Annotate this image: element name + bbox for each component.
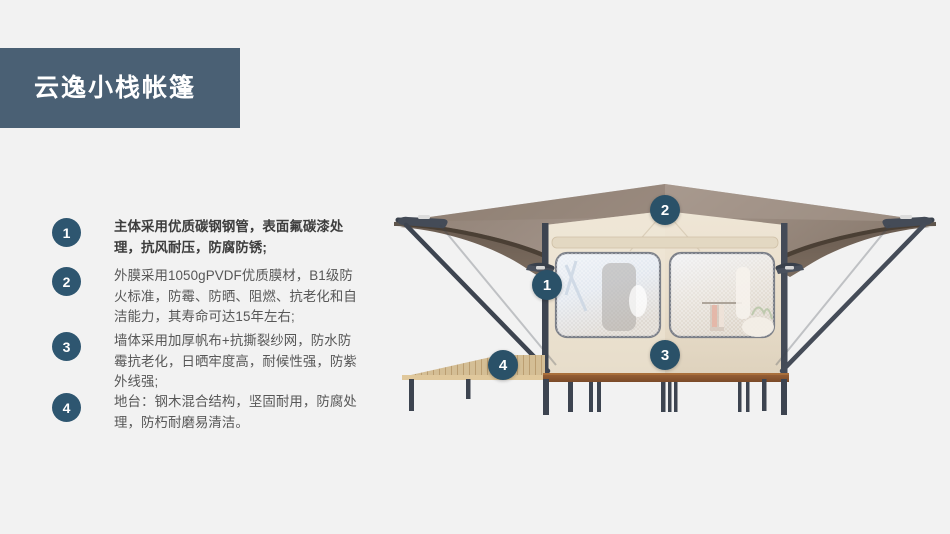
marker-2[interactable]: 2 bbox=[650, 195, 680, 225]
feature-badge-1: 1 bbox=[52, 218, 81, 247]
feature-badge-2: 2 bbox=[52, 267, 81, 296]
deck-support-legs bbox=[409, 379, 787, 415]
marker-4[interactable]: 4 bbox=[488, 350, 518, 380]
tent-product-illustration: 1 2 3 4 bbox=[380, 165, 950, 430]
feature-badge-3: 3 bbox=[52, 332, 81, 361]
window-right bbox=[670, 253, 774, 337]
feature-text-4: 地台：钢木混合结构，坚固耐用，防腐处理，防朽耐磨易清洁。 bbox=[114, 392, 364, 433]
feature-text-3: 墙体采用加厚帆布+抗撕裂纱网，防水防霉抗老化，日晒牢度高，耐候性强，防紫外线强; bbox=[114, 331, 364, 393]
marker-3[interactable]: 3 bbox=[650, 340, 680, 370]
feature-text-1: 主体采用优质碳钢钢管，表面氟碳漆处理，抗风耐压，防腐防锈; bbox=[114, 217, 364, 258]
window-head-rail bbox=[552, 237, 778, 248]
page-title: 云逸小栈帐篷 bbox=[34, 76, 196, 101]
main-deck-highlight bbox=[543, 373, 789, 375]
feature-badge-4: 4 bbox=[52, 393, 81, 422]
title-banner: 云逸小栈帐篷 bbox=[0, 48, 240, 128]
window-left bbox=[556, 253, 660, 337]
feature-text-2: 外膜采用1050gPVDF优质膜材，B1级防火标准，防霉、防晒、阻燃、抗老化和自… bbox=[114, 266, 364, 328]
marker-1[interactable]: 1 bbox=[532, 270, 562, 300]
side-deck-edge bbox=[402, 375, 545, 380]
slide-canvas: 云逸小栈帐篷 1 主体采用优质碳钢钢管，表面氟碳漆处理，抗风耐压，防腐防锈; 2… bbox=[0, 0, 950, 534]
